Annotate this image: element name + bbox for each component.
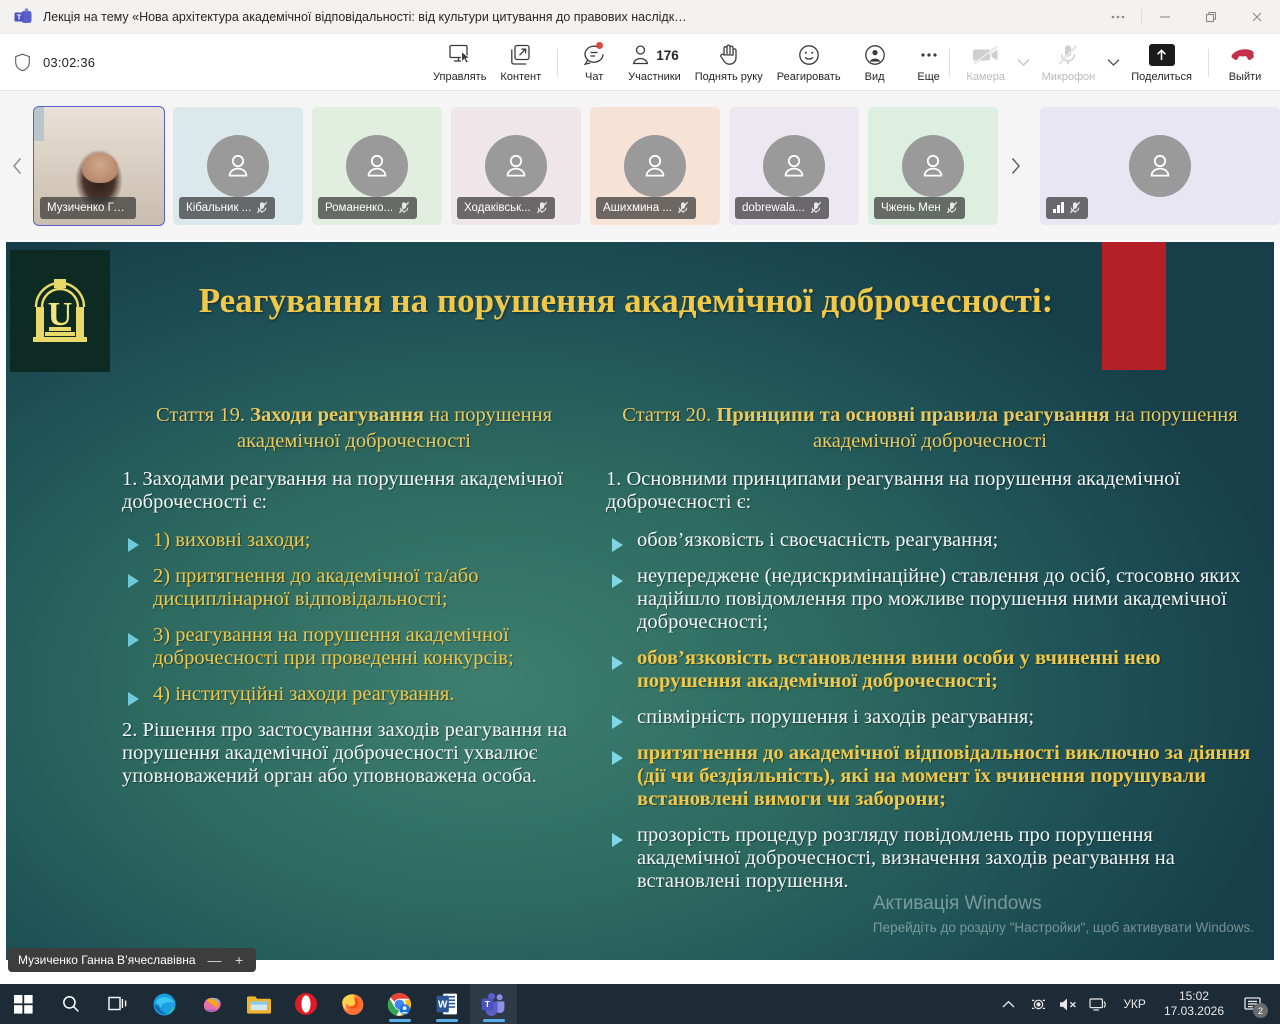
mic-off-icon bbox=[1056, 42, 1080, 68]
command-divider-1 bbox=[557, 49, 558, 77]
left-bullet-text: 3) реагування на порушення академічної д… bbox=[153, 624, 586, 670]
right-bullet-text-highlight: притягнення до академічної відповідально… bbox=[637, 742, 1254, 811]
slide-accent-bar bbox=[1102, 242, 1166, 370]
triangle-bullet-icon bbox=[128, 633, 139, 647]
camera-tray-icon[interactable] bbox=[1023, 984, 1053, 1024]
windows-taskbar: W T bbox=[0, 984, 1280, 1024]
window-titlebar: T Лекція на тему «Нова архітектура акаде… bbox=[0, 0, 1280, 34]
participant-nametag: Чжень Мен bbox=[874, 197, 965, 219]
filmstrip-tiles: Музиченко Ган... Кібальник ... Романенк bbox=[34, 107, 998, 225]
participants-count: 176 bbox=[656, 48, 679, 63]
chrome-icon[interactable] bbox=[376, 984, 423, 1024]
list-item: 1) виховні заходи; bbox=[122, 529, 586, 552]
mic-off-icon bbox=[810, 201, 822, 214]
mic-off-icon bbox=[1069, 201, 1081, 214]
restore-button[interactable] bbox=[1188, 0, 1234, 34]
filmstrip-prev-arrow-icon[interactable] bbox=[0, 91, 34, 240]
list-item: прозорість процедур розгляду повідомлень… bbox=[606, 824, 1254, 893]
share-button[interactable]: Поделиться bbox=[1124, 37, 1199, 89]
list-item: 2) притягнення до академічної та/або дис… bbox=[122, 565, 586, 611]
watermark-title: Активація Windows bbox=[873, 893, 1254, 915]
command-bar-center-group: Управлять Контент bbox=[426, 34, 956, 91]
participants-button[interactable]: 176 Участники bbox=[621, 37, 688, 89]
task-view-icon[interactable] bbox=[94, 984, 141, 1024]
right-bullet-text: обов’язковість і своєчасність реагування… bbox=[637, 529, 998, 552]
avatar bbox=[902, 135, 964, 197]
participant-nametag: dobrewala... bbox=[735, 197, 829, 219]
teams-taskbar-icon[interactable]: T bbox=[470, 984, 517, 1024]
triangle-bullet-icon bbox=[612, 833, 623, 847]
window-title: Лекція на тему «Нова архітектура академі… bbox=[43, 10, 687, 24]
mic-off-icon bbox=[398, 201, 410, 214]
close-button[interactable] bbox=[1234, 0, 1280, 34]
list-item: обов’язковість встановлення вини особи у… bbox=[606, 647, 1254, 693]
chat-label: Чат bbox=[585, 71, 603, 83]
share-label: Поделиться bbox=[1131, 71, 1192, 83]
leave-button[interactable]: Выйти bbox=[1218, 37, 1272, 89]
raise-hand-button[interactable]: Поднять руку bbox=[688, 37, 770, 89]
presenter-zoom-pill[interactable]: Музиченко Ганна В’ячеславівна — + bbox=[8, 948, 256, 972]
content-open-icon bbox=[509, 42, 533, 68]
camera-options-chevron-down-icon[interactable] bbox=[1013, 48, 1035, 78]
system-tray: УКР 15:02 17.03.2026 2 bbox=[993, 984, 1280, 1024]
participant-nametag: Ашихмина ... bbox=[596, 197, 696, 219]
triangle-bullet-icon bbox=[128, 692, 139, 706]
word-icon[interactable]: W bbox=[423, 984, 470, 1024]
share-up-arrow-icon bbox=[1149, 42, 1175, 68]
participant-tile-active[interactable]: Музиченко Ган... bbox=[34, 107, 164, 225]
teams-icon: T bbox=[14, 8, 32, 26]
watermark-subtitle: Перейдіть до розділу "Настройки", щоб ак… bbox=[873, 918, 1254, 938]
list-item: притягнення до академічної відповідально… bbox=[606, 742, 1254, 811]
left-heading-bold: Заходи реагування bbox=[250, 404, 424, 426]
list-item: співмірність порушення і заходів реагува… bbox=[606, 706, 1254, 729]
manage-screen-icon bbox=[447, 42, 473, 68]
opera-icon[interactable] bbox=[282, 984, 329, 1024]
triangle-bullet-icon bbox=[612, 656, 623, 670]
mic-off-icon bbox=[256, 201, 268, 214]
avatar bbox=[763, 135, 825, 197]
triangle-bullet-icon bbox=[612, 715, 623, 729]
left-section-heading: Стаття 19. Заходи реагування на порушенн… bbox=[122, 402, 586, 454]
left-bullet-text: 2) притягнення до академічної та/або дис… bbox=[153, 565, 586, 611]
manage-button[interactable]: Управлять bbox=[426, 37, 493, 89]
content-button[interactable]: Контент bbox=[493, 37, 548, 89]
windows-start-icon[interactable] bbox=[0, 984, 47, 1024]
right-bullet-text: співмірність порушення і заходів реагува… bbox=[637, 706, 1034, 729]
left-heading-prefix: Стаття 19. bbox=[156, 404, 250, 426]
volume-muted-icon[interactable] bbox=[1053, 984, 1083, 1024]
participant-nametag: Кібальник ... bbox=[179, 197, 275, 219]
zoom-out-button[interactable]: — bbox=[208, 952, 221, 968]
participants-label: Участники bbox=[628, 71, 681, 83]
participant-nametag: Ходаківськ... bbox=[457, 197, 555, 219]
network-icon[interactable] bbox=[1083, 984, 1113, 1024]
filmstrip-overflow-group bbox=[1040, 107, 1280, 225]
edge-icon[interactable] bbox=[141, 984, 188, 1024]
copilot-icon[interactable] bbox=[188, 984, 235, 1024]
command-divider-2 bbox=[949, 49, 950, 77]
chat-button[interactable]: Чат bbox=[567, 37, 621, 89]
view-layout-icon bbox=[863, 42, 887, 68]
triangle-bullet-icon bbox=[128, 574, 139, 588]
right-heading-prefix: Стаття 20. bbox=[622, 404, 716, 426]
right-section-heading: Стаття 20. Принципи та основні правила р… bbox=[606, 402, 1254, 454]
slide-title: Реагування на порушення академічної добр… bbox=[156, 278, 1096, 324]
microphone-label: Микрофон bbox=[1042, 71, 1096, 83]
mic-off-icon bbox=[536, 201, 548, 214]
left-outro-paragraph: 2. Рішення про застосування заходів реаг… bbox=[122, 719, 586, 788]
right-heading-bold: Принципи та основні правила реагування bbox=[716, 404, 1109, 426]
right-bullet-list: обов’язковість і своєчасність реагування… bbox=[606, 529, 1254, 892]
search-icon[interactable] bbox=[47, 984, 94, 1024]
avatar bbox=[1129, 135, 1191, 197]
taskbar-running-underline bbox=[436, 1019, 458, 1022]
participant-tile[interactable]: Ходаківськ... bbox=[451, 107, 581, 225]
shared-presentation-slide[interactable]: U Реагування на порушення академічної до… bbox=[6, 242, 1274, 960]
mic-off-icon bbox=[677, 201, 689, 214]
firefox-icon[interactable] bbox=[329, 984, 376, 1024]
notifications-icon[interactable]: 2 bbox=[1232, 984, 1272, 1024]
raise-hand-icon bbox=[717, 42, 741, 68]
participants-filmstrip: Музиченко Ган... Кібальник ... Романенк bbox=[0, 91, 1280, 240]
list-item: неупереджене (недискримінаційне) ставлен… bbox=[606, 565, 1254, 634]
meeting-timer: 03:02:36 bbox=[43, 55, 95, 70]
slide-column-right: Стаття 20. Принципи та основні правила р… bbox=[606, 402, 1274, 960]
filmstrip-next-arrow-icon[interactable] bbox=[998, 91, 1032, 240]
list-item: обов’язковість і своєчасність реагування… bbox=[606, 529, 1254, 552]
hangup-phone-icon bbox=[1231, 42, 1259, 68]
svg-text:T: T bbox=[485, 999, 491, 1009]
participant-name: Романенко... bbox=[325, 202, 393, 214]
zoom-in-button[interactable]: + bbox=[233, 952, 246, 968]
right-bullet-text: неупереджене (недискримінаційне) ставлен… bbox=[637, 565, 1254, 634]
participant-tile-overflow[interactable] bbox=[1040, 107, 1280, 225]
language-indicator[interactable]: УКР bbox=[1113, 997, 1156, 1011]
triangle-bullet-icon bbox=[612, 751, 623, 765]
activity-bars-icon bbox=[1053, 202, 1064, 213]
participant-name: Чжень Мен bbox=[881, 202, 941, 214]
list-item: 4) інституційні заходи реагування. bbox=[122, 683, 586, 706]
avatar bbox=[485, 135, 547, 197]
titlebar-more-button[interactable] bbox=[1095, 0, 1141, 34]
participant-nametag: Романенко... bbox=[318, 197, 417, 219]
presenter-name: Музиченко Ганна В’ячеславівна bbox=[18, 953, 196, 967]
raise-hand-label: Поднять руку bbox=[695, 71, 763, 83]
file-explorer-icon[interactable] bbox=[235, 984, 282, 1024]
taskbar-running-underline bbox=[389, 1019, 411, 1022]
left-bullet-text: 1) виховні заходи; bbox=[153, 529, 310, 552]
triangle-bullet-icon bbox=[612, 574, 623, 588]
participant-nametag bbox=[1046, 197, 1088, 219]
more-label: Еще bbox=[917, 71, 939, 83]
clock[interactable]: 15:02 17.03.2026 bbox=[1156, 989, 1232, 1019]
participant-name: Ходаківськ... bbox=[464, 202, 531, 214]
windows-activation-watermark: Активація Windows Перейдіть до розділу "… bbox=[873, 893, 1254, 938]
left-intro-paragraph: 1. Заходами реагування на порушення акад… bbox=[122, 468, 586, 514]
svg-text:T: T bbox=[17, 12, 22, 21]
clock-time: 15:02 bbox=[1164, 989, 1224, 1004]
tray-expand-chevron-up-icon[interactable] bbox=[993, 984, 1023, 1024]
participant-tile[interactable]: Кібальник ... bbox=[173, 107, 303, 225]
command-divider-3 bbox=[1208, 49, 1209, 77]
camera-button[interactable]: Камера bbox=[959, 37, 1013, 89]
triangle-bullet-icon bbox=[128, 538, 139, 552]
view-button[interactable]: Вид bbox=[848, 37, 902, 89]
slide-column-left: Стаття 19. Заходи реагування на порушенн… bbox=[6, 402, 606, 960]
taskbar-running-underline bbox=[483, 1019, 505, 1022]
camera-label: Камера bbox=[966, 71, 1004, 83]
microphone-options-chevron-down-icon[interactable] bbox=[1102, 48, 1124, 78]
slide-columns: Стаття 19. Заходи реагування на порушенн… bbox=[6, 402, 1274, 960]
teams-meeting-window: T Лекція на тему «Нова архітектура акаде… bbox=[0, 0, 1280, 1024]
reactions-smiley-icon bbox=[797, 42, 821, 68]
leave-label: Выйти bbox=[1229, 71, 1262, 83]
content-label: Контент bbox=[500, 71, 541, 83]
react-label: Реагировать bbox=[777, 71, 841, 83]
participant-name: Ашихмина ... bbox=[603, 202, 672, 214]
mic-off-icon bbox=[946, 201, 958, 214]
participant-tile[interactable]: Ашихмина ... bbox=[590, 107, 720, 225]
left-bullet-list: 1) виховні заходи; 2) притягнення до ака… bbox=[122, 529, 586, 706]
participant-nametag: Музиченко Ган... bbox=[40, 197, 136, 219]
svg-text:W: W bbox=[437, 1000, 447, 1011]
avatar bbox=[346, 135, 408, 197]
triangle-bullet-icon bbox=[612, 538, 623, 552]
command-bar-right-group: Камера Микрофон bbox=[940, 34, 1272, 91]
minimize-button[interactable] bbox=[1142, 0, 1188, 34]
right-bullet-text-highlight: обов’язковість встановлення вини особи у… bbox=[637, 647, 1254, 693]
camera-off-icon bbox=[972, 42, 1000, 68]
participant-tile[interactable]: dobrewala... bbox=[729, 107, 859, 225]
participant-tile[interactable]: Чжень Мен bbox=[868, 107, 998, 225]
window-controls bbox=[1095, 0, 1280, 34]
clock-date: 17.03.2026 bbox=[1164, 1004, 1224, 1019]
university-logo: U bbox=[10, 250, 110, 372]
notifications-count-badge: 2 bbox=[1253, 1003, 1268, 1018]
participant-tile[interactable]: Романенко... bbox=[312, 107, 442, 225]
more-ellipsis-icon bbox=[917, 42, 941, 68]
microphone-button[interactable]: Микрофон bbox=[1035, 37, 1103, 89]
view-label: Вид bbox=[865, 71, 885, 83]
manage-label: Управлять bbox=[433, 71, 486, 83]
left-bullet-text: 4) інституційні заходи реагування. bbox=[153, 683, 454, 706]
react-button[interactable]: Реагировать bbox=[770, 37, 848, 89]
participant-name: Кібальник ... bbox=[186, 202, 251, 214]
right-bullet-text: прозорість процедур розгляду повідомлень… bbox=[637, 824, 1254, 893]
avatar bbox=[624, 135, 686, 197]
participant-name: dobrewala... bbox=[742, 202, 805, 214]
participant-name: Музиченко Ган... bbox=[47, 202, 129, 214]
list-item: 3) реагування на порушення академічної д… bbox=[122, 624, 586, 670]
shield-icon bbox=[14, 53, 31, 72]
meeting-status-group: 03:02:36 bbox=[0, 53, 95, 72]
right-intro-paragraph: 1. Основними принципами реагування на по… bbox=[606, 468, 1254, 514]
avatar bbox=[207, 135, 269, 197]
chat-icon bbox=[582, 42, 606, 68]
meeting-command-bar: 03:02:36 Управлять bbox=[0, 34, 1280, 91]
people-icon: 176 bbox=[630, 42, 679, 68]
